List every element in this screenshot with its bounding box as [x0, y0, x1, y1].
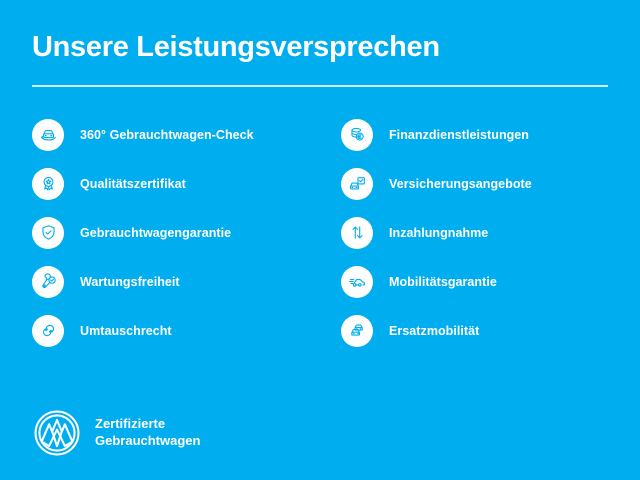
- arrows-up-down-icon: [341, 217, 373, 249]
- page-title: Unsere Leistungsversprechen: [32, 32, 608, 64]
- benefit-label: Inzahlungnahme: [389, 226, 488, 240]
- volkswagen-logo-icon: [32, 408, 82, 458]
- benefits-left-column: 360° Gebrauchtwagen-Check Qualitätszerti…: [32, 119, 299, 347]
- brand-text-line1: Zertifizierte: [95, 416, 165, 431]
- benefit-item-gebrauchtwagengarantie[interactable]: Gebrauchtwagengarantie: [32, 217, 299, 249]
- benefit-label: Finanzdienstleistungen: [389, 128, 529, 142]
- coins-euro-icon: [341, 119, 373, 151]
- car-360-check-icon: [32, 119, 64, 151]
- wrench-check-icon: [32, 266, 64, 298]
- benefit-label: 360° Gebrauchtwagen-Check: [80, 128, 254, 142]
- brand-lockup: Zertifizierte Gebrauchtwagen: [32, 408, 200, 458]
- benefit-item-finanzdienstleistungen[interactable]: Finanzdienstleistungen: [341, 119, 608, 151]
- benefit-label: Qualitätszertifikat: [80, 177, 186, 191]
- benefit-label: Mobilitätsgarantie: [389, 275, 497, 289]
- benefit-item-mobilitaetsgarantie[interactable]: Mobilitätsgarantie: [341, 266, 608, 298]
- car-insurance-document-icon: [341, 168, 373, 200]
- exchange-arrows-icon: [32, 315, 64, 347]
- two-cars-icon: [341, 315, 373, 347]
- benefit-item-ersatzmobilitaet[interactable]: Ersatzmobilität: [341, 315, 608, 347]
- shield-check-icon: [32, 217, 64, 249]
- benefits-right-column: Finanzdienstleistungen Versicherungsange…: [341, 119, 608, 347]
- quality-award-rosette-icon: [32, 168, 64, 200]
- benefit-item-umtauschrecht[interactable]: Umtauschrecht: [32, 315, 299, 347]
- title-divider: [32, 85, 608, 87]
- benefit-item-gebrauchtwagen-check[interactable]: 360° Gebrauchtwagen-Check: [32, 119, 299, 151]
- benefits-grid: 360° Gebrauchtwagen-Check Qualitätszerti…: [32, 119, 608, 347]
- benefit-label: Umtauschrecht: [80, 324, 172, 338]
- brand-text: Zertifizierte Gebrauchtwagen: [95, 416, 200, 449]
- benefit-label: Gebrauchtwagengarantie: [80, 226, 231, 240]
- benefit-item-versicherungsangebote[interactable]: Versicherungsangebote: [341, 168, 608, 200]
- benefit-label: Wartungsfreiheit: [80, 275, 180, 289]
- promise-panel: Unsere Leistungsversprechen 360° Gebrauc…: [0, 0, 640, 480]
- benefit-item-wartungsfreiheit[interactable]: Wartungsfreiheit: [32, 266, 299, 298]
- benefit-label: Versicherungsangebote: [389, 177, 532, 191]
- header: Unsere Leistungsversprechen: [32, 0, 608, 87]
- car-motion-icon: [341, 266, 373, 298]
- benefit-item-inzahlungnahme[interactable]: Inzahlungnahme: [341, 217, 608, 249]
- benefit-label: Ersatzmobilität: [389, 324, 479, 338]
- benefit-item-qualitaetszertifikat[interactable]: Qualitätszertifikat: [32, 168, 299, 200]
- brand-text-line2: Gebrauchtwagen: [95, 433, 200, 448]
